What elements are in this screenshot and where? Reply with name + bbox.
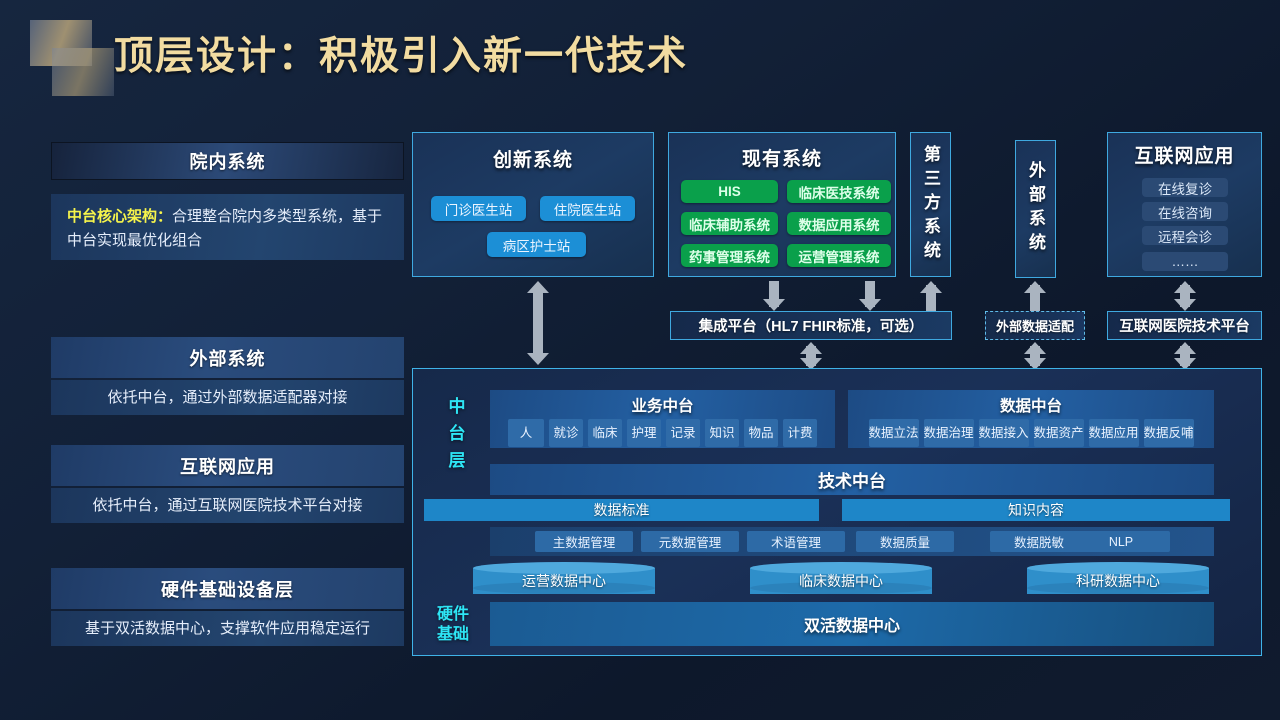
chip-clinical-assist-system[interactable]: 临床辅助系统 xyxy=(681,212,778,235)
middle-platform-layer-label: 中台层 xyxy=(438,385,472,490)
tag-business-nursing[interactable]: 护理 xyxy=(627,419,661,447)
data-middle-platform: 数据中台 数据立法 数据治理 数据接入 数据资产 数据应用 数据反哺 xyxy=(848,390,1214,448)
slide-canvas: 顶层设计：积极引入新一代技术 院内系统 中台核心架构：合理整合院内多类型系统，基… xyxy=(0,0,1280,720)
business-platform-title: 业务中台 xyxy=(490,394,835,416)
left-panel-body-hardware-layer: 基于双活数据中心，支撑软件应用稳定运行 xyxy=(51,611,404,646)
cylinder-label-clinical: 临床数据中心 xyxy=(750,568,932,594)
chip-ward-nurse-station[interactable]: 病区护士站 xyxy=(487,232,586,257)
bar-knowledge-content: 知识内容 xyxy=(842,499,1230,521)
overlapping-squares-logo xyxy=(22,20,122,98)
tag-data-application[interactable]: 数据应用 xyxy=(1089,419,1139,447)
hardware-base-label: 硬件 基础 xyxy=(428,604,478,646)
tag-business-clinical[interactable]: 临床 xyxy=(588,419,622,447)
group-title-existing: 现有系统 xyxy=(669,144,895,171)
tag-business-person[interactable]: 人 xyxy=(508,419,544,447)
tag-data-quality[interactable]: 数据质量 xyxy=(856,531,954,552)
chip-pharmacy-management-system[interactable]: 药事管理系统 xyxy=(681,244,778,267)
business-middle-platform: 业务中台 人 就诊 临床 护理 记录 知识 物品 计费 xyxy=(490,390,835,448)
tag-business-billing[interactable]: 计费 xyxy=(783,419,817,447)
arrow-existing-to-integration-left xyxy=(761,281,787,311)
hardware-base-label-line1: 硬件 xyxy=(437,605,469,625)
chip-inpatient-doctor-station[interactable]: 住院医生站 xyxy=(540,196,635,221)
arrow-adapter-to-middle xyxy=(1022,342,1048,370)
inner-system-highlight: 中台核心架构： xyxy=(67,208,172,225)
chip-online-consult[interactable]: 在线咨询 xyxy=(1142,202,1228,221)
chip-his[interactable]: HIS xyxy=(681,180,778,203)
cylinder-label-operation: 运营数据中心 xyxy=(473,568,655,594)
arrow-integration-to-middle xyxy=(798,342,824,370)
tag-data-legislation[interactable]: 数据立法 xyxy=(869,419,919,447)
left-panel-head-internet-app: 互联网应用 xyxy=(51,445,404,486)
page-title: 顶层设计：积极引入新一代技术 xyxy=(114,25,688,81)
platform-integration[interactable]: 集成平台（HL7 FHIR标准，可选） xyxy=(670,311,952,340)
cylinder-research-data-center[interactable]: 科研数据中心 xyxy=(1027,562,1209,596)
chip-outpatient-doctor-station[interactable]: 门诊医生站 xyxy=(431,196,526,221)
chip-online-revisit[interactable]: 在线复诊 xyxy=(1142,178,1228,197)
group-external-system: 外部系统 xyxy=(1015,140,1056,278)
tag-business-record[interactable]: 记录 xyxy=(666,419,700,447)
arrow-external-to-adapter xyxy=(1022,281,1048,311)
tech-middle-platform: 技术中台 xyxy=(490,464,1214,495)
arrow-third-party-to-integration xyxy=(918,281,944,311)
tag-nlp[interactable]: NLP xyxy=(1072,531,1170,552)
left-panel-body-external-system: 依托中台，通过外部数据适配器对接 xyxy=(51,380,404,415)
cylinder-clinical-data-center[interactable]: 临床数据中心 xyxy=(750,562,932,596)
chip-clinical-tech-system[interactable]: 临床医技系统 xyxy=(787,180,891,203)
tag-master-data-management[interactable]: 主数据管理 xyxy=(535,531,633,552)
platform-internet-hospital-tech[interactable]: 互联网医院技术平台 xyxy=(1107,311,1262,340)
tag-business-visit[interactable]: 就诊 xyxy=(549,419,583,447)
left-panel-head-hardware-layer: 硬件基础设备层 xyxy=(51,568,404,609)
tag-data-asset[interactable]: 数据资产 xyxy=(1034,419,1084,447)
tag-business-goods[interactable]: 物品 xyxy=(744,419,778,447)
group-title-internet: 互联网应用 xyxy=(1108,141,1261,168)
platform-external-data-adapter[interactable]: 外部数据适配 xyxy=(985,311,1085,340)
arrow-internet-platform-to-middle xyxy=(1172,342,1198,370)
left-panel-body-inner-system: 中台核心架构：合理整合院内多类型系统，基于中台实现最优化组合 xyxy=(51,194,404,260)
tag-data-access[interactable]: 数据接入 xyxy=(979,419,1029,447)
hardware-dual-active-data-center: 双活数据中心 xyxy=(490,602,1214,646)
chip-operation-management-system[interactable]: 运营管理系统 xyxy=(787,244,891,267)
left-panel-body-internet-app: 依托中台，通过互联网医院技术平台对接 xyxy=(51,488,404,523)
tag-data-feedback[interactable]: 数据反哺 xyxy=(1144,419,1194,447)
arrow-innovation-to-middle xyxy=(525,281,551,365)
hardware-base-label-line2: 基础 xyxy=(437,625,469,645)
chip-more-ellipsis[interactable]: …… xyxy=(1142,252,1228,271)
tag-business-knowledge[interactable]: 知识 xyxy=(705,419,739,447)
cylinder-operation-data-center[interactable]: 运营数据中心 xyxy=(473,562,655,596)
tag-data-governance[interactable]: 数据治理 xyxy=(924,419,974,447)
data-platform-title: 数据中台 xyxy=(848,394,1214,416)
chip-remote-consultation[interactable]: 远程会诊 xyxy=(1142,226,1228,245)
group-title-innovation: 创新系统 xyxy=(413,145,653,172)
tag-terminology-management[interactable]: 术语管理 xyxy=(747,531,845,552)
arrow-internet-to-platform xyxy=(1172,281,1198,311)
bar-data-standard: 数据标准 xyxy=(424,499,819,521)
cylinder-label-research: 科研数据中心 xyxy=(1027,568,1209,594)
left-panel-head-external-system: 外部系统 xyxy=(51,337,404,378)
tag-metadata-management[interactable]: 元数据管理 xyxy=(641,531,739,552)
left-panel-head-inner-system: 院内系统 xyxy=(51,142,404,180)
chip-data-application-system[interactable]: 数据应用系统 xyxy=(787,212,891,235)
arrow-existing-to-integration-right xyxy=(857,281,883,311)
group-third-party-system: 第三方系统 xyxy=(910,132,951,277)
